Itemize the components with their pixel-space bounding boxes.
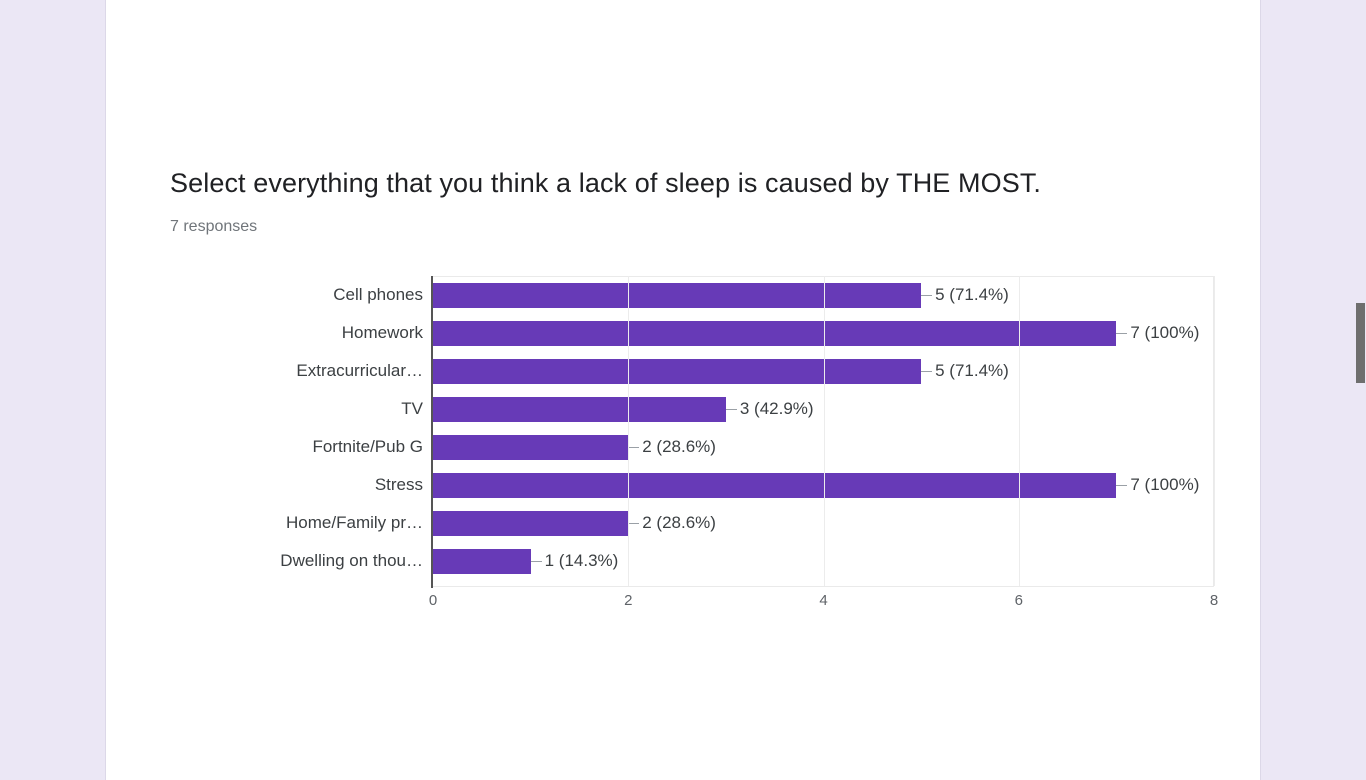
bar-value-label: 5 (71.4%) [935, 352, 1009, 390]
x-axis-tick-labels: 02468 [271, 588, 1231, 614]
bar-label-connector [726, 409, 737, 410]
category-label: Homework [271, 314, 423, 352]
bar-label-connector [628, 523, 639, 524]
category-label: Home/Family pr… [271, 504, 423, 542]
chart-gridline [824, 276, 825, 586]
x-axis-tick-label: 4 [804, 588, 844, 614]
bar-value-label: 7 (100%) [1130, 466, 1199, 504]
chart-bar-row: Home/Family pr…2 (28.6%) [271, 504, 1231, 542]
page-scrollbar[interactable] [1356, 0, 1366, 768]
question-block: Select everything that you think a lack … [170, 166, 1170, 238]
bar-label-connector [531, 561, 542, 562]
chart-bar-row: Stress7 (100%) [271, 466, 1231, 504]
chart-bar[interactable] [433, 321, 1116, 346]
chart-gridline [1214, 276, 1215, 586]
category-label: Cell phones [271, 276, 423, 314]
bar-label-connector [1116, 485, 1127, 486]
chart-bar[interactable] [433, 359, 921, 384]
chart-bar-row: Homework7 (100%) [271, 314, 1231, 352]
chart-bar-row: Dwelling on thou…1 (14.3%) [271, 542, 1231, 580]
bar-value-label: 5 (71.4%) [935, 276, 1009, 314]
x-axis-tick-label: 0 [413, 588, 453, 614]
responses-count: 7 responses [170, 216, 1170, 238]
chart-bar[interactable] [433, 435, 628, 460]
bar-label-connector [921, 295, 932, 296]
category-label: Fortnite/Pub G [271, 428, 423, 466]
bar-label-connector [1116, 333, 1127, 334]
page-scrollbar-thumb[interactable] [1356, 303, 1365, 383]
category-label: TV [271, 390, 423, 428]
category-label: Dwelling on thou… [271, 542, 423, 580]
x-axis-tick-label: 6 [999, 588, 1039, 614]
chart-gridline [1019, 276, 1020, 586]
chart-bar[interactable] [433, 283, 921, 308]
chart-bar-row: Cell phones5 (71.4%) [271, 276, 1231, 314]
category-label: Stress [271, 466, 423, 504]
bar-value-label: 1 (14.3%) [545, 542, 619, 580]
bar-label-connector [628, 447, 639, 448]
chart-bar[interactable] [433, 397, 726, 422]
bar-value-label: 2 (28.6%) [642, 428, 716, 466]
chart-bar[interactable] [433, 473, 1116, 498]
page-viewport: Select everything that you think a lack … [0, 0, 1366, 768]
chart-bar[interactable] [433, 511, 628, 536]
chart-bar-row: Extracurricular…5 (71.4%) [271, 352, 1231, 390]
bar-label-connector [921, 371, 932, 372]
bar-chart: Cell phones5 (71.4%)Homework7 (100%)Extr… [271, 270, 1231, 620]
x-axis-tick-label: 8 [1194, 588, 1234, 614]
chart-gridline [628, 276, 629, 586]
chart-bar[interactable] [433, 549, 531, 574]
bar-value-label: 3 (42.9%) [740, 390, 814, 428]
bar-value-label: 2 (28.6%) [642, 504, 716, 542]
question-title: Select everything that you think a lack … [170, 166, 1170, 200]
category-label: Extracurricular… [271, 352, 423, 390]
form-response-card: Select everything that you think a lack … [105, 0, 1261, 780]
x-axis-tick-label: 2 [608, 588, 648, 614]
chart-bar-row: Fortnite/Pub G2 (28.6%) [271, 428, 1231, 466]
bar-value-label: 7 (100%) [1130, 314, 1199, 352]
chart-bar-row: TV3 (42.9%) [271, 390, 1231, 428]
